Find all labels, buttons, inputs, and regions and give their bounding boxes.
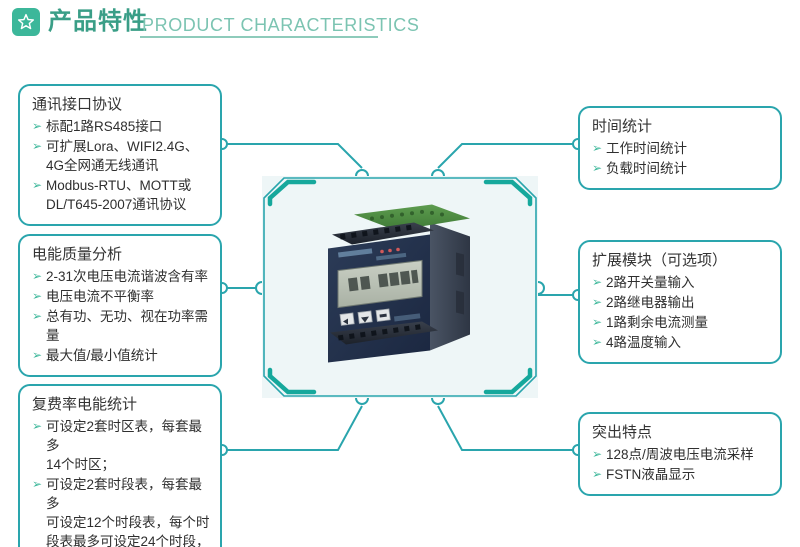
info-box-title: 通讯接口协议 (32, 94, 210, 116)
bullet-arrow-icon: ➢ (32, 137, 42, 156)
list-item: ➢可设定2套时段表，每套最多可设定12个时段表，每个时段表最多可设定24个时段，… (32, 475, 210, 547)
star-badge-icon (12, 8, 40, 36)
list-item-text: 1路剩余电流测量 (606, 315, 708, 330)
page-header: 产品特性 PRODUCT CHARACTERISTICS (0, 0, 800, 46)
info-box-list: ➢128点/周波电压电流采样 ➢FSTN液晶显示 (592, 445, 770, 484)
product-photo-panel (262, 176, 538, 398)
device-illustration (310, 205, 490, 370)
list-item-text: 可设定2套时区表，每套最多14个时区； (46, 419, 202, 472)
info-box-highlight-features: 突出特点 ➢128点/周波电压电流采样 ➢FSTN液晶显示 (578, 412, 782, 496)
bullet-arrow-icon: ➢ (592, 293, 602, 312)
list-item: ➢2路继电器输出 (592, 293, 770, 312)
bullet-arrow-icon: ➢ (32, 117, 42, 136)
info-box-power-quality-analysis: 电能质量分析 ➢2-31次电压电流谐波含有率 ➢电压电流不平衡率 ➢总有功、无功… (18, 234, 222, 377)
list-item-text: 可扩展Lora、WIFI2.4G、4G全网通无线通讯 (46, 139, 198, 173)
list-item: ➢2-31次电压电流谐波含有率 (32, 267, 210, 286)
list-item: ➢2路开关量输入 (592, 273, 770, 292)
list-item-text: 电压电流不平衡率 (46, 289, 154, 304)
info-box-communication-protocol: 通讯接口协议 ➢标配1路RS485接口 ➢可扩展Lora、WIFI2.4G、4G… (18, 84, 222, 226)
info-box-list: ➢可设定2套时区表，每套最多14个时区； ➢可设定2套时段表，每套最多可设定12… (32, 417, 210, 547)
list-item-text: 负载时间统计 (606, 161, 687, 176)
list-item: ➢总有功、无功、视在功率需量 (32, 307, 210, 345)
bullet-arrow-icon: ➢ (32, 176, 42, 195)
list-item-text: 最大值/最小值统计 (46, 348, 158, 363)
product-characteristics-infographic: 产品特性 PRODUCT CHARACTERISTICS (0, 0, 800, 547)
list-item-text: 2路继电器输出 (606, 295, 695, 310)
info-box-title: 时间统计 (592, 116, 770, 138)
bullet-arrow-icon: ➢ (32, 475, 42, 494)
list-item: ➢电压电流不平衡率 (32, 287, 210, 306)
bullet-arrow-icon: ➢ (592, 159, 602, 178)
list-item: ➢最大值/最小值统计 (32, 346, 210, 365)
bullet-arrow-icon: ➢ (592, 313, 602, 332)
info-box-time-statistics: 时间统计 ➢工作时间统计 ➢负载时间统计 (578, 106, 782, 190)
list-item: ➢负载时间统计 (592, 159, 770, 178)
header-underline (140, 36, 378, 38)
list-item: ➢可扩展Lora、WIFI2.4G、4G全网通无线通讯 (32, 137, 210, 175)
list-item-text: FSTN液晶显示 (606, 467, 695, 482)
list-item: ➢Modbus-RTU、MOTT或DL/T645-2007通讯协议 (32, 176, 210, 214)
bullet-arrow-icon: ➢ (592, 139, 602, 158)
list-item: ➢可设定2套时区表，每套最多14个时区； (32, 417, 210, 474)
bullet-arrow-icon: ➢ (592, 333, 602, 352)
info-box-expansion-modules: 扩展模块（可选项） ➢2路开关量输入 ➢2路继电器输出 ➢1路剩余电流测量 ➢4… (578, 240, 782, 364)
info-box-multi-rate-energy-statistics: 复费率电能统计 ➢可设定2套时区表，每套最多14个时区； ➢可设定2套时段表，每… (18, 384, 222, 547)
info-box-list: ➢2路开关量输入 ➢2路继电器输出 ➢1路剩余电流测量 ➢4路温度输入 (592, 273, 770, 352)
list-item: ➢FSTN液晶显示 (592, 465, 770, 484)
bullet-arrow-icon: ➢ (32, 287, 42, 306)
list-item-text: Modbus-RTU、MOTT或DL/T645-2007通讯协议 (46, 178, 191, 212)
bullet-arrow-icon: ➢ (32, 267, 42, 286)
din-rail-energy-meter (310, 205, 490, 370)
list-item-text: 标配1路RS485接口 (46, 119, 162, 134)
info-box-list: ➢工作时间统计 ➢负载时间统计 (592, 139, 770, 178)
bullet-arrow-icon: ➢ (32, 417, 42, 436)
info-box-title: 电能质量分析 (32, 244, 210, 266)
list-item-text: 可设定2套时段表，每套最多可设定12个时段表，每个时段表最多可设定24个时段，且… (46, 477, 210, 547)
list-item: ➢标配1路RS485接口 (32, 117, 210, 136)
page-title-en: PRODUCT CHARACTERISTICS (142, 13, 420, 37)
info-box-list: ➢标配1路RS485接口 ➢可扩展Lora、WIFI2.4G、4G全网通无线通讯… (32, 117, 210, 214)
bullet-arrow-icon: ➢ (592, 465, 602, 484)
list-item-text: 2-31次电压电流谐波含有率 (46, 269, 208, 284)
list-item-text: 总有功、无功、视在功率需量 (46, 309, 208, 343)
bullet-arrow-icon: ➢ (32, 346, 42, 365)
list-item-text: 2路开关量输入 (606, 275, 695, 290)
list-item: ➢4路温度输入 (592, 333, 770, 352)
list-item-text: 128点/周波电压电流采样 (606, 447, 754, 462)
list-item: ➢工作时间统计 (592, 139, 770, 158)
page-title-cn: 产品特性 (48, 7, 148, 37)
bullet-arrow-icon: ➢ (592, 273, 602, 292)
list-item-text: 工作时间统计 (606, 141, 687, 156)
info-box-list: ➢2-31次电压电流谐波含有率 ➢电压电流不平衡率 ➢总有功、无功、视在功率需量… (32, 267, 210, 365)
bullet-arrow-icon: ➢ (592, 445, 602, 464)
list-item-text: 4路温度输入 (606, 335, 681, 350)
bullet-arrow-icon: ➢ (32, 307, 42, 326)
list-item: ➢1路剩余电流测量 (592, 313, 770, 332)
info-box-title: 突出特点 (592, 422, 770, 444)
info-box-title: 复费率电能统计 (32, 394, 210, 416)
info-box-title: 扩展模块（可选项） (592, 250, 770, 272)
list-item: ➢128点/周波电压电流采样 (592, 445, 770, 464)
